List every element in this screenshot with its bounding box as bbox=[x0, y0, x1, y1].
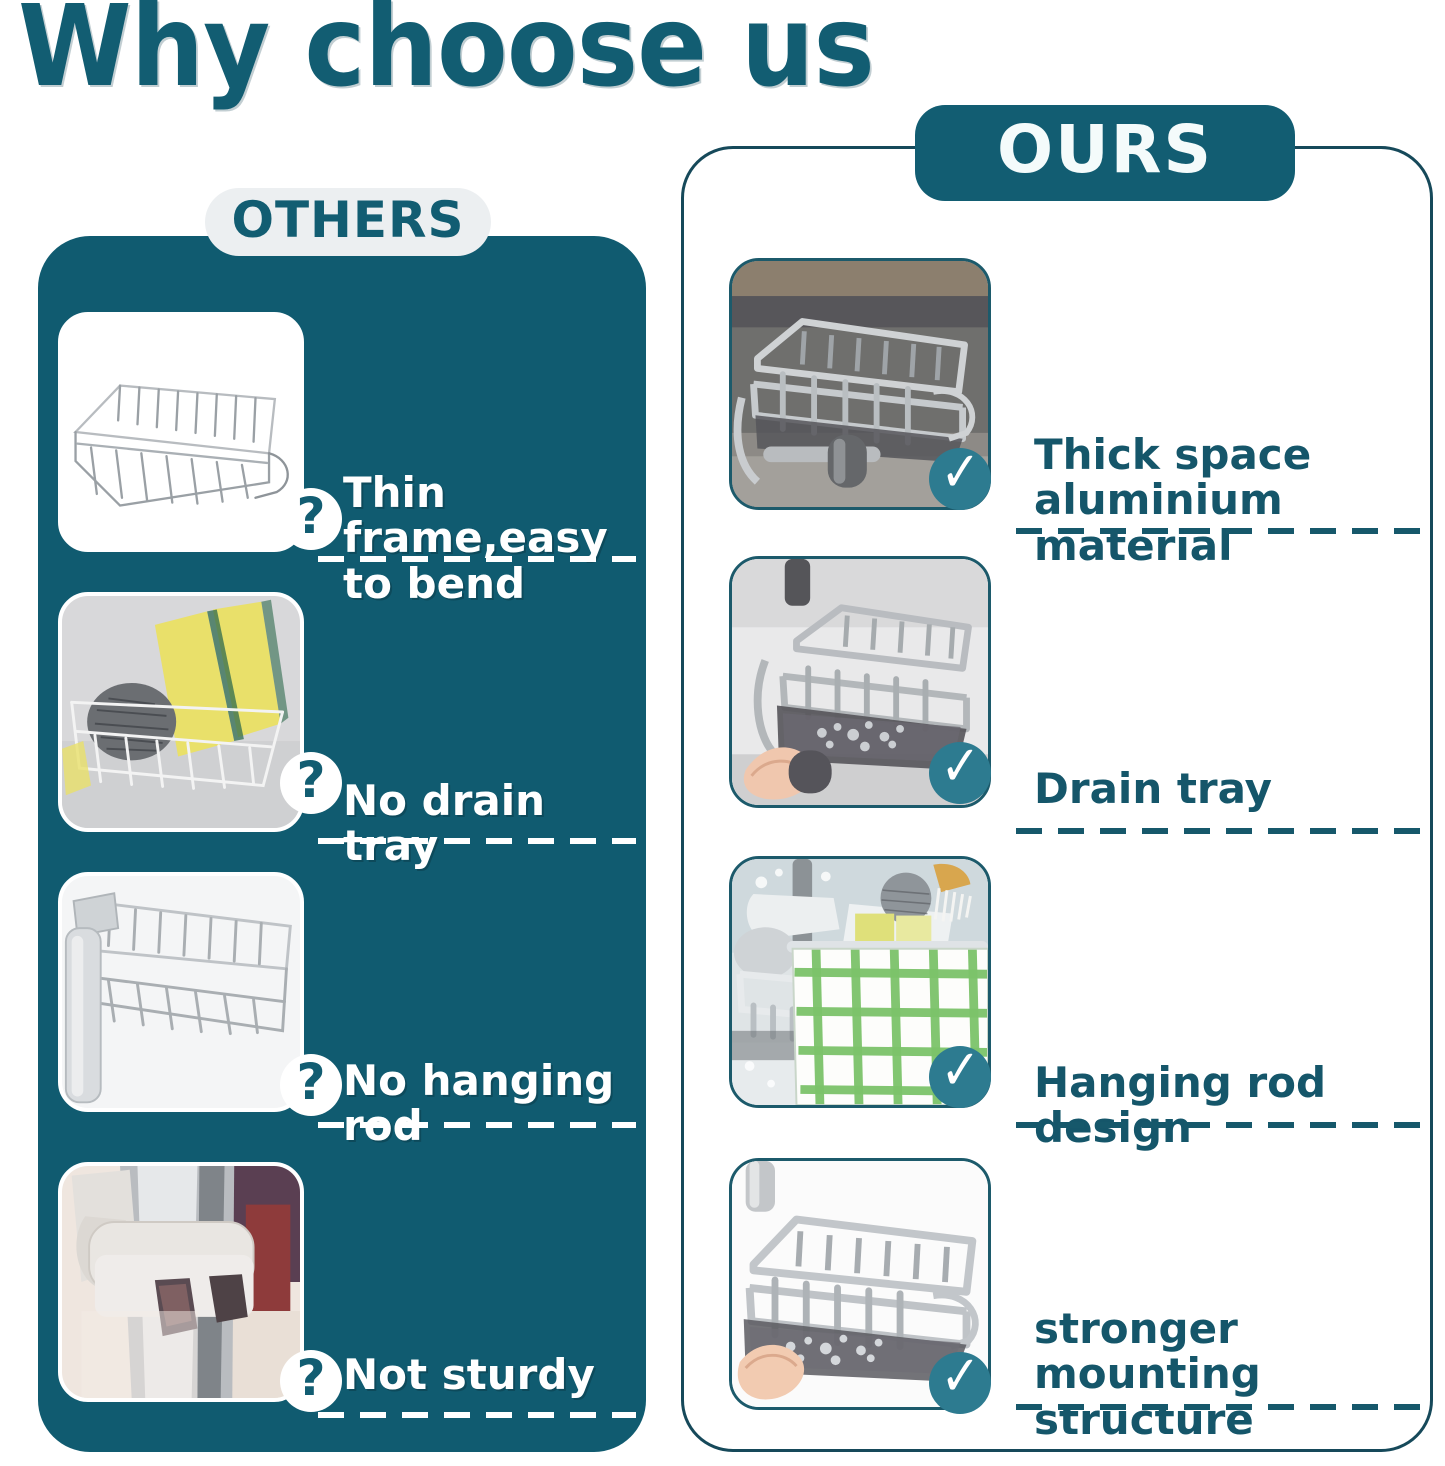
others-caption-2: No drain tray bbox=[343, 778, 643, 869]
check-marker-2: ✓ bbox=[929, 742, 991, 804]
question-mark-icon: ? bbox=[296, 1353, 325, 1403]
others-thumb-4 bbox=[58, 1162, 304, 1402]
others-divider-1 bbox=[318, 556, 636, 562]
ours-divider-3 bbox=[1016, 1122, 1432, 1128]
ours-caption-2-label: Drain tray bbox=[1034, 766, 1434, 811]
others-row-1: ? bbox=[58, 312, 304, 552]
others-thumb-3 bbox=[58, 872, 304, 1112]
ours-row-4: ✓ bbox=[729, 1158, 991, 1410]
ours-divider-4 bbox=[1016, 1404, 1432, 1410]
others-divider-2 bbox=[318, 838, 636, 844]
check-marker-4: ✓ bbox=[929, 1352, 991, 1414]
others-caption-3-label: No hanging rod bbox=[343, 1058, 643, 1149]
ours-caption-3: Hanging rod design bbox=[1034, 1060, 1434, 1151]
others-row-2: ? bbox=[58, 592, 304, 832]
page-title: Why choose us bbox=[18, 0, 874, 112]
others-divider-3 bbox=[318, 1122, 636, 1128]
check-marker-1: ✓ bbox=[929, 448, 991, 510]
question-marker-2: ? bbox=[280, 752, 342, 814]
question-mark-icon: ? bbox=[296, 755, 325, 805]
check-icon: ✓ bbox=[940, 1349, 980, 1405]
ours-divider-1 bbox=[1016, 528, 1432, 534]
ours-row-3: ✓ bbox=[729, 856, 991, 1108]
check-icon: ✓ bbox=[940, 445, 980, 501]
others-badge-label: OTHERS bbox=[231, 195, 464, 245]
others-caption-1: Thin frame,easy to bend bbox=[343, 470, 643, 606]
ours-caption-4-label: stronger mounting structure bbox=[1034, 1306, 1434, 1442]
check-icon: ✓ bbox=[940, 1043, 980, 1099]
others-caption-4: Not sturdy bbox=[343, 1352, 643, 1397]
others-badge: OTHERS bbox=[205, 188, 491, 256]
ours-caption-3-label: Hanging rod design bbox=[1034, 1060, 1434, 1151]
ours-caption-4: stronger mounting structure bbox=[1034, 1306, 1434, 1442]
question-marker-4: ? bbox=[280, 1350, 342, 1412]
question-mark-icon: ? bbox=[296, 1057, 325, 1107]
others-thumb-1 bbox=[58, 312, 304, 552]
ours-divider-2 bbox=[1016, 828, 1432, 834]
ours-badge-label: OURS bbox=[997, 117, 1213, 183]
question-mark-icon: ? bbox=[296, 491, 325, 541]
others-row-4: ? bbox=[58, 1162, 304, 1402]
others-caption-1-label: Thin frame,easy to bend bbox=[343, 470, 643, 606]
others-caption-3: No hanging rod bbox=[343, 1058, 643, 1149]
others-thumb-2 bbox=[58, 592, 304, 832]
others-caption-4-label: Not sturdy bbox=[343, 1352, 643, 1397]
others-divider-4 bbox=[318, 1412, 636, 1418]
question-marker-1: ? bbox=[280, 488, 342, 550]
others-caption-2-label: No drain tray bbox=[343, 778, 643, 869]
check-marker-3: ✓ bbox=[929, 1046, 991, 1108]
others-row-3: ? bbox=[58, 872, 304, 1112]
check-icon: ✓ bbox=[940, 739, 980, 795]
ours-caption-2: Drain tray bbox=[1034, 766, 1434, 811]
ours-row-2: ✓ bbox=[729, 556, 991, 808]
ours-badge: OURS bbox=[915, 105, 1295, 201]
ours-row-1: ✓ bbox=[729, 258, 991, 510]
question-marker-3: ? bbox=[280, 1054, 342, 1116]
ours-caption-1: Thick space aluminium material bbox=[1034, 432, 1434, 568]
ours-caption-1-label: Thick space aluminium material bbox=[1034, 432, 1434, 568]
